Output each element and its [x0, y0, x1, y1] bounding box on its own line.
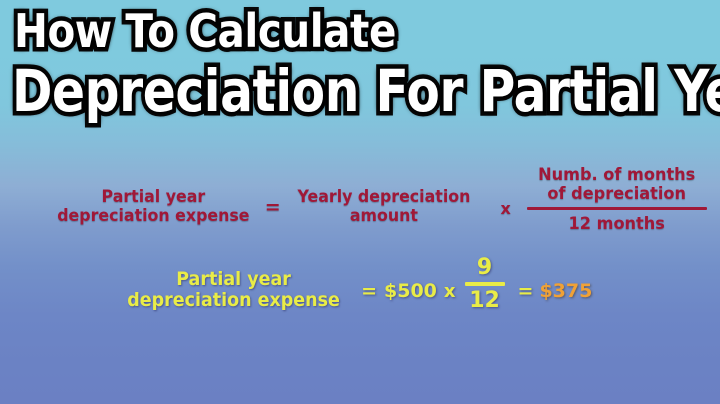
- general-formula-yearly-line-2: amount: [297, 207, 470, 226]
- worked-example-fraction-bar: [465, 282, 505, 286]
- general-formula-numerator-line-1: Numb. of months: [538, 166, 695, 185]
- general-formula-fraction: Numb. of months of depreciation 12 month…: [527, 166, 707, 234]
- worked-example-fraction: 9 12: [465, 256, 505, 312]
- worked-example-fraction-numerator: 9: [477, 256, 492, 280]
- worked-example-equals-sign-1: =: [361, 267, 377, 302]
- title-line-2: Depreciation For Partial Years: [12, 62, 720, 120]
- general-formula-multiply-sign: x: [501, 182, 511, 218]
- general-formula: Partial year depreciation expense = Year…: [50, 166, 707, 234]
- general-formula-numerator-line-2: of depreciation: [538, 185, 695, 204]
- worked-example-left-line-1: Partial year: [127, 269, 340, 290]
- general-formula-left-line-1: Partial year: [57, 188, 249, 207]
- general-formula-fraction-denominator: 12 months: [569, 213, 665, 234]
- worked-example-yearly-amount: $500: [384, 267, 437, 302]
- general-formula-yearly-line-1: Yearly depreciation: [297, 188, 470, 207]
- general-formula-left-term: Partial year depreciation expense: [57, 174, 249, 226]
- general-formula-fraction-bar: [527, 207, 707, 210]
- general-formula-left-line-2: depreciation expense: [57, 207, 249, 226]
- worked-example-left-line-2: depreciation expense: [127, 290, 340, 311]
- worked-example-formula: Partial year depreciation expense = $500…: [118, 256, 592, 312]
- slide-canvas: How To Calculate Depreciation For Partia…: [0, 0, 720, 404]
- general-formula-yearly-term: Yearly depreciation amount: [297, 174, 470, 226]
- worked-example-equals-sign-2: =: [518, 267, 534, 302]
- worked-example-multiply-sign: x: [444, 267, 456, 302]
- title-line-1: How To Calculate: [14, 8, 396, 54]
- general-formula-equals-sign: =: [265, 181, 281, 218]
- worked-example-result: $375: [539, 267, 592, 302]
- general-formula-fraction-numerator: Numb. of months of depreciation: [534, 166, 699, 205]
- worked-example-left-term: Partial year depreciation expense: [127, 257, 340, 311]
- worked-example-fraction-denominator: 12: [469, 288, 500, 312]
